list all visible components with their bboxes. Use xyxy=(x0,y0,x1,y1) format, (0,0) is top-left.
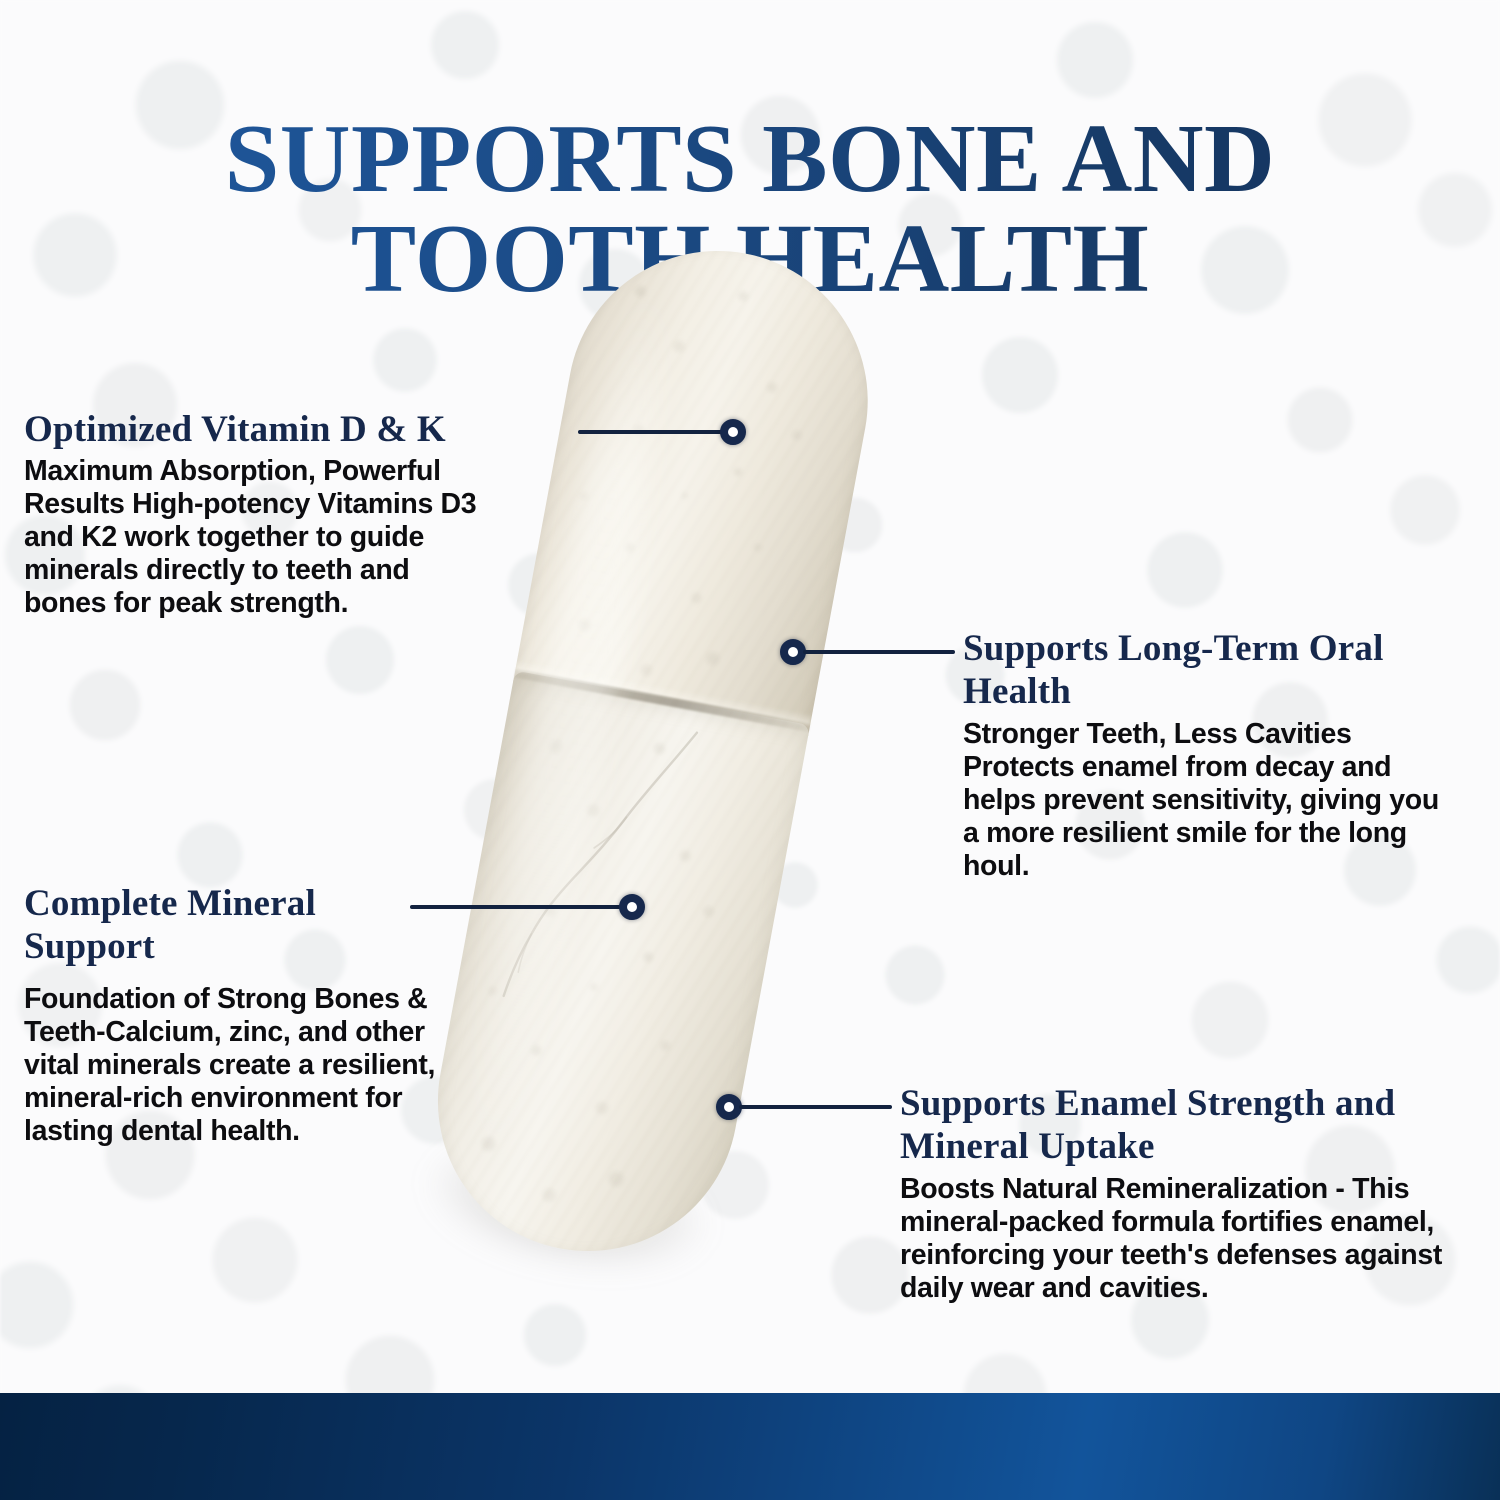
connector-line-1 xyxy=(578,430,733,434)
callout-supports-enamel-strength: Supports Enamel Strength and Mineral Upt… xyxy=(900,1082,1480,1305)
callout-heading: Supports Enamel Strength and Mineral Upt… xyxy=(900,1082,1480,1169)
callout-body: Maximum Absorption, Powerful Results Hig… xyxy=(24,455,494,620)
connector-dot-1 xyxy=(720,419,746,445)
callout-body: Stronger Teeth, Less Cavities Protects e… xyxy=(963,718,1448,883)
callout-heading: Optimized Vitamin D & K xyxy=(24,408,584,451)
callout-body: Boosts Natural Remineralization - This m… xyxy=(900,1173,1480,1305)
connector-line-4 xyxy=(739,1105,892,1109)
callout-optimized-vitamin-d-k: Optimized Vitamin D & K Maximum Absorpti… xyxy=(24,408,584,621)
infographic-canvas: SUPPORTS BONE AND TOOTH HEALTH Optimized… xyxy=(0,0,1500,1500)
connector-dot-3 xyxy=(619,894,645,920)
callout-complete-mineral-support: Complete Mineral Support Foundation of S… xyxy=(24,882,494,1148)
callout-body: Foundation of Strong Bones & Teeth-Calci… xyxy=(24,983,476,1148)
page-title-line-1: SUPPORTS BONE AND xyxy=(225,105,1276,213)
callout-heading: Supports Long-Term Oral Health xyxy=(963,627,1423,714)
connector-line-2 xyxy=(803,650,955,654)
bottom-brand-bar xyxy=(0,1393,1500,1500)
callout-supports-long-term-oral-health: Supports Long-Term Oral Health Stronger … xyxy=(963,627,1463,883)
callout-heading: Complete Mineral Support xyxy=(24,882,424,969)
